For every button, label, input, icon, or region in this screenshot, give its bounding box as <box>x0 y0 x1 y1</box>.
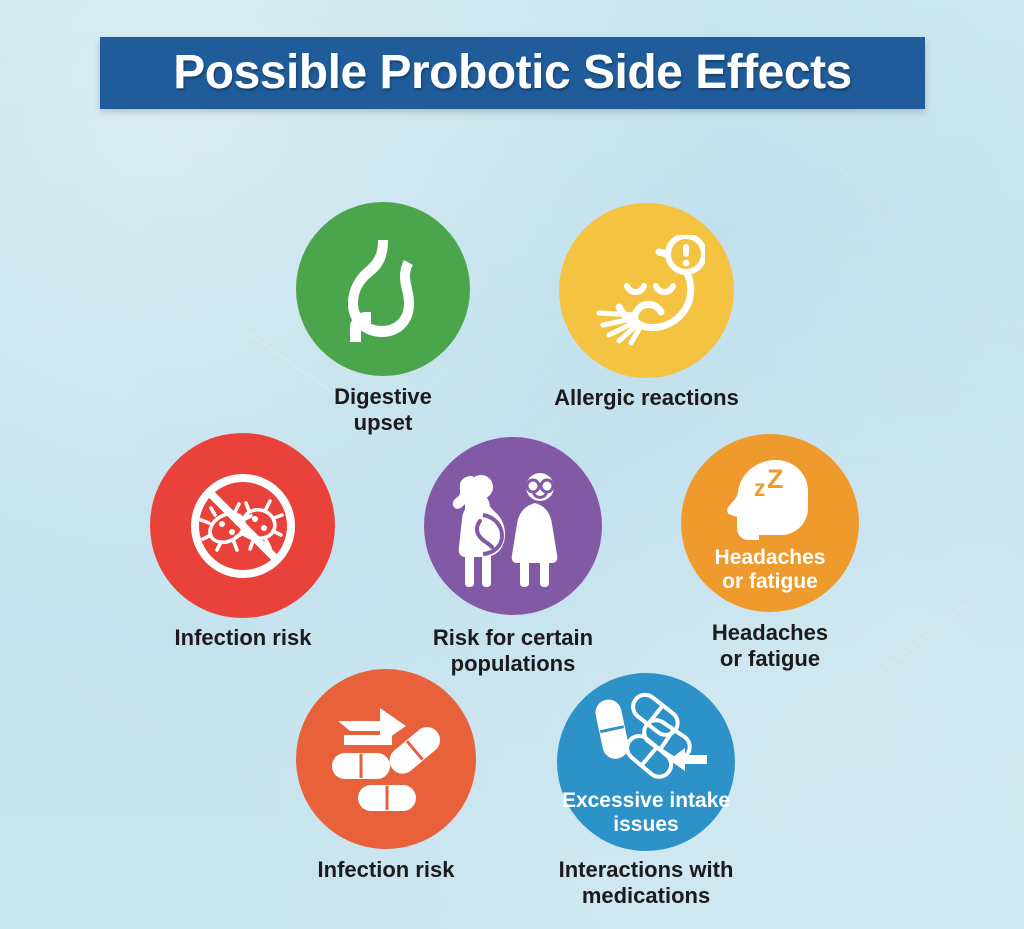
stomach-icon <box>331 234 435 344</box>
infection-risk-top-circle[interactable] <box>150 433 335 618</box>
sneezing-face-icon <box>589 235 705 347</box>
infection-risk-bottom-label: Infection risk <box>254 857 518 883</box>
sleepy-head-icon: z Z <box>726 458 820 544</box>
pregnant-woman-and-elderly-icon <box>450 465 576 587</box>
headaches-or-fatigue-inner-caption: Headaches or fatigue <box>681 546 859 593</box>
capsules-with-arrow-icon <box>591 693 707 789</box>
svg-text:Z: Z <box>767 464 784 494</box>
svg-text:z: z <box>754 475 766 501</box>
allergic-reactions-label: Allergic reactions <box>509 385 784 411</box>
risk-for-certain-populations-circle[interactable] <box>424 437 602 615</box>
allergic-reactions-circle[interactable] <box>559 203 734 378</box>
node-interactions-with-medications[interactable]: Excessive intake issues Interactions wit… <box>557 673 735 851</box>
node-headaches-or-fatigue[interactable]: z Z Headaches or fatigue Headaches or fa… <box>681 434 859 612</box>
interactions-with-medications-label: Interactions with medications <box>501 857 791 909</box>
infection-risk-top-label: Infection risk <box>112 625 374 651</box>
node-digestive-upset[interactable]: Digestive upset <box>296 202 470 376</box>
no-bacteria-icon <box>179 462 307 590</box>
digestive-upset-label: Digestive upset <box>256 384 510 436</box>
node-infection-risk-top[interactable]: Infection risk <box>150 433 335 618</box>
node-risk-for-certain-populations[interactable]: Risk for certain populations <box>424 437 602 615</box>
infection-risk-bottom-circle[interactable] <box>296 669 476 849</box>
interactions-with-medications-inner-caption: Excessive intake issues <box>557 789 735 836</box>
background-streak <box>65 679 145 723</box>
headaches-or-fatigue-circle[interactable]: z Z Headaches or fatigue <box>681 434 859 612</box>
node-allergic-reactions[interactable]: Allergic reactions <box>559 203 734 378</box>
interactions-with-medications-circle[interactable]: Excessive intake issues <box>557 673 735 851</box>
headaches-or-fatigue-label: Headaches or fatigue <box>639 620 901 672</box>
digestive-upset-circle[interactable] <box>296 202 470 376</box>
title-banner: Possible Probotic Side Effects <box>100 37 925 109</box>
pills-with-arrow-icon <box>328 705 444 813</box>
background-streak <box>834 160 887 223</box>
page-title: Possible Probotic Side Effects <box>173 49 852 97</box>
node-infection-risk-bottom[interactable]: Infection risk <box>296 669 476 849</box>
